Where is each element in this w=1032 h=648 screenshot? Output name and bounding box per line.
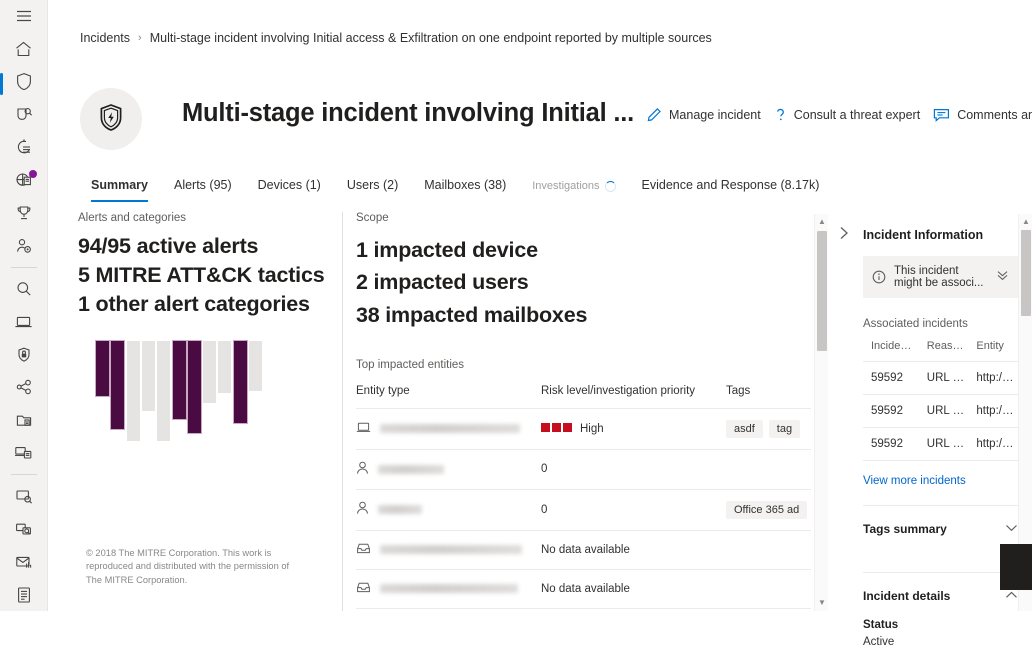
tab-investigations[interactable]: Investigations bbox=[519, 170, 628, 202]
share-nodes-icon bbox=[15, 378, 33, 396]
risk-level-cell: High bbox=[541, 408, 726, 449]
risk-level-label: No data available bbox=[541, 583, 630, 595]
incident-details-label: Incident details bbox=[863, 589, 950, 603]
comment-icon bbox=[933, 108, 950, 122]
incident-id-cell: 59592 bbox=[863, 362, 919, 395]
associated-incidents-label: Associated incidents bbox=[863, 318, 1018, 330]
user-icon bbox=[356, 461, 369, 478]
info-icon bbox=[872, 270, 886, 284]
tag-pill[interactable]: asdf bbox=[726, 420, 763, 438]
manage-incident-button[interactable]: Manage incident bbox=[647, 107, 761, 122]
sidebar-item-endpoints-config[interactable] bbox=[0, 436, 48, 469]
mitre-bar[interactable] bbox=[173, 341, 186, 419]
sidebar-item-devices[interactable] bbox=[0, 305, 48, 338]
sidebar-item-email-explorer[interactable] bbox=[0, 480, 48, 513]
nav-divider-1 bbox=[11, 267, 37, 268]
sidebar-item-threat-analytics[interactable] bbox=[0, 164, 48, 197]
question-mark-icon bbox=[774, 107, 787, 122]
sidebar-item-evaluation-lab[interactable] bbox=[0, 404, 48, 437]
page-title: Multi-stage incident involving Initial .… bbox=[182, 99, 634, 128]
tags-cell bbox=[726, 449, 811, 489]
table-header-row: Entity type Risk level/investigation pri… bbox=[356, 385, 811, 409]
impacted-entities-table: Entity type Risk level/investigation pri… bbox=[356, 385, 811, 609]
stat-impacted-devices: 1 impacted device bbox=[356, 234, 816, 266]
incident-header: Multi-stage incident involving Initial .… bbox=[80, 88, 1024, 152]
scope-panel: Scope 1 impacted device 2 impacted users… bbox=[356, 212, 816, 611]
document-list-icon bbox=[16, 586, 32, 604]
entity-type-cell bbox=[356, 489, 541, 530]
mailbox-icon bbox=[356, 542, 371, 558]
sidebar-item-search[interactable] bbox=[0, 273, 48, 306]
breadcrumb: Incidents › Multi-stage incident involvi… bbox=[80, 31, 712, 45]
sidebar-item-incidents[interactable] bbox=[0, 65, 48, 98]
breadcrumb-current: Multi-stage incident involving Initial a… bbox=[150, 31, 712, 45]
tags-summary-label: Tags summary bbox=[863, 522, 947, 536]
chevron-right-icon: › bbox=[138, 32, 142, 44]
column-header-tags[interactable]: Tags bbox=[726, 385, 811, 409]
incident-information-body: Incident Information This incident might… bbox=[863, 212, 1018, 611]
mitre-bar[interactable] bbox=[142, 341, 155, 411]
mitre-bar[interactable] bbox=[249, 341, 262, 391]
risk-level-label: 0 bbox=[541, 504, 547, 516]
trophy-icon bbox=[15, 204, 33, 222]
view-more-incidents-link[interactable]: View more incidents bbox=[863, 475, 966, 487]
table-row[interactable]: 0 bbox=[356, 449, 811, 489]
chevron-up-icon[interactable] bbox=[1005, 590, 1018, 602]
column-header-reason: Reason bbox=[919, 340, 969, 362]
sidebar-item-secure-score[interactable] bbox=[0, 196, 48, 229]
tab-alerts[interactable]: Alerts (95) bbox=[161, 170, 245, 202]
top-impacted-entities-label: Top impacted entities bbox=[356, 359, 816, 371]
tab-investigations-label: Investigations bbox=[532, 171, 599, 201]
loading-spinner-icon bbox=[605, 181, 616, 192]
sidebar-item-vulnerability-management[interactable] bbox=[0, 338, 48, 371]
laptop-icon bbox=[14, 314, 33, 330]
tab-devices[interactable]: Devices (1) bbox=[245, 170, 334, 202]
scroll-down-arrow-icon[interactable]: ▼ bbox=[815, 595, 829, 609]
incident-information-title: Incident Information bbox=[863, 228, 1018, 242]
risk-level-label: High bbox=[580, 423, 604, 435]
tab-bar: Summary Alerts (95) Devices (1) Users (2… bbox=[78, 170, 1032, 204]
table-row[interactable]: 59592URL sim...http://1... bbox=[863, 395, 1018, 428]
tag-pill[interactable]: Office 365 ad bbox=[726, 501, 807, 519]
tab-mailboxes[interactable]: Mailboxes (38) bbox=[411, 170, 519, 202]
comments-and-history-label: Comments and history bbox=[957, 108, 1032, 122]
sidebar-item-mail-flow[interactable] bbox=[0, 545, 48, 578]
shield-lightning-icon bbox=[98, 103, 124, 135]
entity-type-cell bbox=[356, 408, 541, 449]
chevron-down-icon[interactable] bbox=[1005, 523, 1018, 535]
mitre-bar[interactable] bbox=[218, 341, 231, 393]
tags-cell bbox=[726, 569, 811, 608]
sidebar-item-hunting[interactable] bbox=[0, 98, 48, 131]
consult-threat-expert-label: Consult a threat expert bbox=[794, 108, 920, 122]
middle-column-scrollbar[interactable]: ▲ ▼ bbox=[814, 214, 828, 611]
person-gear-icon bbox=[15, 237, 33, 255]
history-icon bbox=[15, 138, 33, 156]
sidebar-item-learning-hub[interactable] bbox=[0, 229, 48, 262]
risk-level-label: No data available bbox=[541, 544, 630, 556]
scroll-up-arrow-icon[interactable]: ▲ bbox=[1019, 214, 1032, 228]
column-header-entity-type[interactable]: Entity type bbox=[356, 385, 541, 409]
sidebar-item-partners-apis[interactable] bbox=[0, 371, 48, 404]
page-container: Incidents › Multi-stage incident involvi… bbox=[48, 0, 1032, 611]
notification-badge bbox=[29, 170, 37, 178]
tab-evidence-response[interactable]: Evidence and Response (8.17k) bbox=[629, 170, 833, 202]
pencil-icon bbox=[647, 107, 662, 122]
table-header-row: Incident... Reason Entity bbox=[863, 340, 1018, 362]
risk-level-label: 0 bbox=[541, 463, 547, 475]
entity-type-cell bbox=[356, 530, 541, 569]
tags-cell: Office 365 ad bbox=[726, 489, 811, 530]
sidebar-item-email-entity[interactable] bbox=[0, 513, 48, 546]
sidebar-item-action-center[interactable] bbox=[0, 131, 48, 164]
entity-name-redacted bbox=[380, 424, 520, 433]
table-row[interactable]: No data available bbox=[356, 530, 811, 569]
multi-device-icon bbox=[14, 444, 33, 461]
incident-id-cell: 59592 bbox=[863, 395, 919, 428]
mitre-bar[interactable] bbox=[127, 341, 140, 441]
beaker-search-icon bbox=[15, 106, 33, 124]
screen-search-alt-icon bbox=[15, 521, 33, 538]
edge-tooltip bbox=[1000, 544, 1032, 590]
incident-details-accordion[interactable]: Incident details bbox=[863, 572, 1018, 603]
table-row[interactable]: Highasdftag bbox=[356, 408, 811, 449]
stat-impacted-users: 2 impacted users bbox=[356, 266, 816, 298]
screen-search-icon bbox=[15, 488, 33, 505]
header-actions: Manage incident Consult a threat expert … bbox=[647, 107, 1032, 122]
tab-users[interactable]: Users (2) bbox=[334, 170, 411, 202]
user-icon bbox=[356, 501, 369, 518]
status-badge: Active bbox=[863, 636, 1018, 648]
scope-section-label: Scope bbox=[356, 212, 816, 224]
sidebar-item-home[interactable] bbox=[0, 33, 48, 66]
comments-and-history-button[interactable]: Comments and history bbox=[933, 108, 1032, 122]
avatar bbox=[80, 88, 142, 150]
associated-incidents-table: Incident... Reason Entity 59592URL sim..… bbox=[863, 340, 1018, 461]
reason-cell: URL sim... bbox=[919, 428, 969, 461]
mailbox-icon bbox=[356, 581, 371, 597]
mail-chart-icon bbox=[15, 554, 33, 570]
mitre-bar[interactable] bbox=[188, 341, 201, 433]
shield-icon bbox=[15, 72, 33, 91]
mitre-attack-chart bbox=[96, 341, 271, 441]
column-header-incident-id: Incident... bbox=[863, 340, 919, 362]
tab-summary[interactable]: Summary bbox=[78, 170, 161, 202]
column-header-risk-level[interactable]: Risk level/investigation priority bbox=[541, 385, 726, 409]
risk-level-cell: 0 bbox=[541, 449, 726, 489]
reason-cell: URL sim... bbox=[919, 395, 969, 428]
tags-cell: asdftag bbox=[726, 408, 811, 449]
consult-threat-expert-button[interactable]: Consult a threat expert bbox=[774, 107, 920, 122]
entity-name-redacted bbox=[378, 465, 444, 474]
stat-impacted-mailboxes: 38 impacted mailboxes bbox=[356, 299, 816, 331]
entity-name-redacted bbox=[380, 545, 522, 554]
hamburger-menu-button[interactable] bbox=[0, 0, 48, 33]
search-icon bbox=[15, 280, 33, 298]
incident-id-cell: 59592 bbox=[863, 428, 919, 461]
left-nav-rail bbox=[0, 0, 48, 611]
shield-lock-icon bbox=[15, 346, 33, 364]
mitre-bar[interactable] bbox=[111, 341, 124, 429]
entity-name-redacted bbox=[378, 505, 422, 514]
stat-active-alerts: 94/95 active alerts bbox=[78, 234, 328, 259]
tags-cell bbox=[726, 530, 811, 569]
manage-incident-label: Manage incident bbox=[669, 108, 761, 122]
risk-level-cell: 0 bbox=[541, 489, 726, 530]
entity-cell: http://1... bbox=[968, 395, 1018, 428]
home-icon bbox=[14, 40, 33, 58]
scroll-up-arrow-icon[interactable]: ▲ bbox=[815, 214, 829, 228]
table-row[interactable]: 0Office 365 ad bbox=[356, 489, 811, 530]
mitre-bar[interactable] bbox=[157, 341, 170, 441]
entity-type-cell bbox=[356, 449, 541, 489]
tags-summary-accordion[interactable]: Tags summary bbox=[863, 505, 1018, 536]
device-icon bbox=[356, 421, 371, 437]
entity-cell: http://1... bbox=[968, 362, 1018, 395]
entity-type-cell bbox=[356, 569, 541, 608]
mitre-bar[interactable] bbox=[96, 341, 109, 396]
hamburger-icon bbox=[16, 9, 32, 23]
status-label: Status bbox=[863, 619, 1018, 631]
mitre-bar[interactable] bbox=[203, 341, 216, 403]
double-chevron-down-icon[interactable] bbox=[996, 270, 1009, 284]
scrollbar-thumb[interactable] bbox=[817, 231, 827, 351]
column-divider-left bbox=[342, 212, 343, 611]
alerts-section-label: Alerts and categories bbox=[78, 212, 328, 224]
risk-indicator-icon bbox=[541, 423, 572, 435]
stat-mitre-tactics: 5 MITRE ATT&CK tactics bbox=[78, 263, 328, 288]
alerts-and-categories-panel: Alerts and categories 94/95 active alert… bbox=[78, 212, 328, 611]
risk-level-cell: No data available bbox=[541, 530, 726, 569]
associated-incident-banner[interactable]: This incident might be associ... bbox=[863, 256, 1018, 298]
table-row[interactable]: 59592URL sim...http://2... bbox=[863, 428, 1018, 461]
associated-incident-banner-text: This incident might be associ... bbox=[894, 265, 988, 289]
entity-name-redacted bbox=[380, 584, 518, 593]
risk-level-cell: No data available bbox=[541, 569, 726, 608]
scrollbar-thumb[interactable] bbox=[1021, 230, 1031, 316]
table-row[interactable]: No data available bbox=[356, 569, 811, 608]
stat-other-categories: 1 other alert categories bbox=[78, 292, 328, 317]
incident-information-panel: Incident Information This incident might… bbox=[834, 212, 1018, 611]
entity-cell: http://2... bbox=[968, 428, 1018, 461]
nav-divider-2 bbox=[11, 474, 37, 475]
mitre-copyright-text: © 2018 The MITRE Corporation. This work … bbox=[86, 547, 296, 587]
breadcrumb-root[interactable]: Incidents bbox=[80, 31, 130, 45]
tag-pill[interactable]: tag bbox=[769, 420, 800, 438]
mitre-bar[interactable] bbox=[234, 341, 247, 423]
chevron-right-icon[interactable] bbox=[839, 226, 850, 243]
column-header-entity: Entity bbox=[968, 340, 1018, 362]
table-row[interactable]: 59592URL sim...http://1... bbox=[863, 362, 1018, 395]
reason-cell: URL sim... bbox=[919, 362, 969, 395]
folder-device-icon bbox=[15, 412, 33, 429]
sidebar-item-reports[interactable] bbox=[0, 578, 48, 611]
